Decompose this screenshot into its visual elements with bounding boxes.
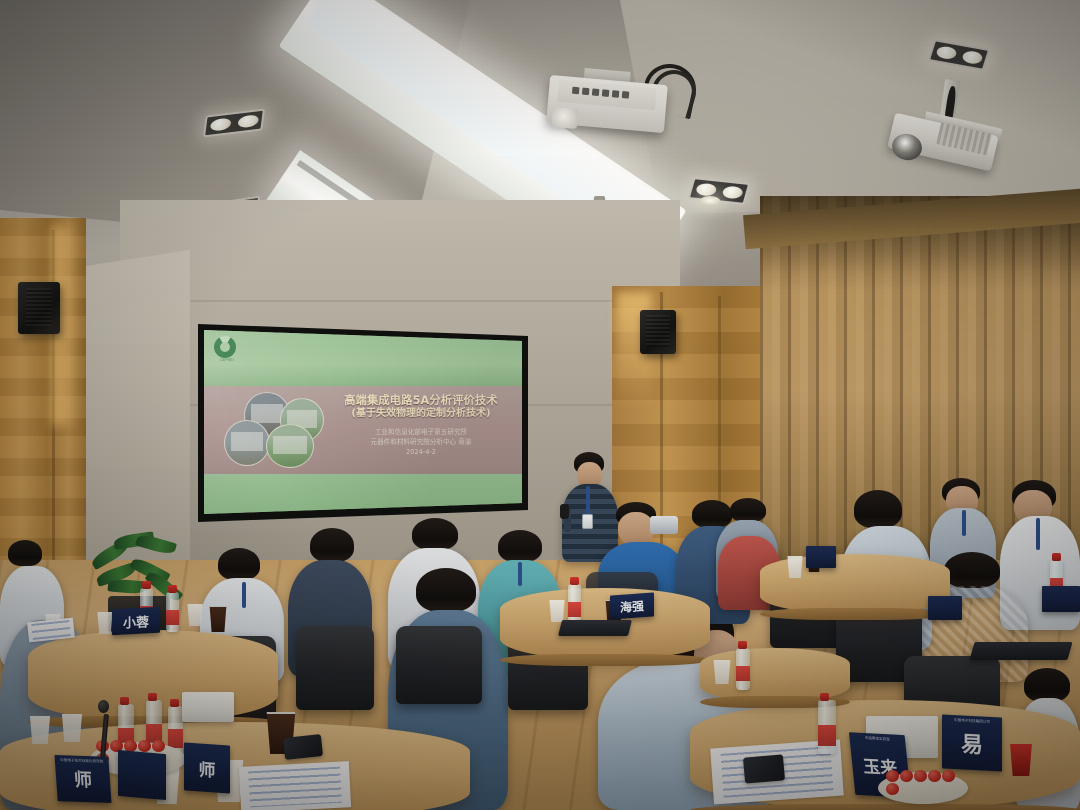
meeting-chair[interactable]	[296, 626, 374, 710]
name-placard: 海强	[610, 592, 654, 619]
placard-text: 小蓉	[123, 611, 149, 631]
water-bottle[interactable]	[736, 648, 750, 690]
placard-subtext: 中国电子技术标准化研究院	[55, 758, 109, 765]
collage-photo	[266, 424, 314, 468]
placard-subtext: 中国赛宝实验室	[849, 735, 905, 743]
placard-text: 易	[961, 726, 983, 759]
camera-device	[650, 516, 678, 534]
presenter-badge	[582, 514, 593, 529]
slide-photo-collage	[222, 392, 334, 468]
laptop[interactable]	[969, 642, 1072, 660]
water-bottle[interactable]	[818, 700, 836, 754]
slide-title: 高端集成电路5A分析评价技术	[328, 394, 514, 407]
water-bottle[interactable]	[166, 592, 179, 632]
ceiling-mounted-projector	[548, 68, 668, 138]
smartphone[interactable]	[283, 734, 323, 760]
name-placard	[118, 750, 166, 800]
desktop-microphone-head[interactable]	[98, 700, 109, 713]
placard-text: 师	[199, 755, 216, 781]
conference-room-photo: CEPREI 高端集成电路5A分析评价技术 (基于失效物理的定制分析技术) 工业…	[0, 0, 1080, 810]
name-placard	[806, 546, 836, 568]
placard-text: 师	[73, 766, 93, 793]
water-bottle[interactable]	[568, 584, 581, 624]
meeting-chair[interactable]	[396, 626, 482, 704]
name-placard: 师	[184, 742, 230, 793]
name-placard: 小蓉	[112, 607, 160, 636]
placard-subtext: 中国电子科技集团公司	[942, 717, 1002, 725]
name-placard: 中国电子技术标准化研究院 师	[54, 755, 111, 803]
wall-speaker-left	[18, 282, 60, 334]
collage-photo	[224, 420, 270, 466]
wall-seam	[120, 300, 680, 302]
handout-document[interactable]	[239, 761, 351, 810]
name-placard	[1042, 586, 1080, 612]
slide-organization-line-1: 工业和信息化部电子第五研究所	[328, 428, 514, 438]
slide-date: 2024-4-2	[328, 448, 514, 458]
handheld-microphone	[560, 504, 569, 519]
slide-subtitle: (基于失效物理的定制分析技术)	[328, 408, 514, 420]
projector-lens	[551, 107, 579, 129]
institute-logo-caption: CEPREI	[210, 359, 244, 362]
placard-text: 海强	[620, 597, 644, 616]
cherry-tomatoes	[886, 770, 956, 795]
slide-organization-line-2: 元器件和材料研究院分析中心 蒋渝	[328, 438, 514, 448]
presenter-lanyard	[586, 486, 590, 516]
smartphone[interactable]	[743, 754, 785, 783]
name-placard	[928, 596, 962, 620]
tissue-box[interactable]	[182, 692, 234, 722]
laptop[interactable]	[558, 620, 632, 636]
projection-screen[interactable]: CEPREI 高端集成电路5A分析评价技术 (基于失效物理的定制分析技术) 工业…	[204, 330, 522, 514]
name-placard: 中国电子科技集团公司 易	[942, 714, 1002, 771]
arm-mounted-projector	[890, 80, 1005, 170]
recessed-downlight	[700, 196, 720, 205]
institute-logo-icon	[214, 336, 236, 358]
wall-speaker-right	[640, 310, 676, 354]
